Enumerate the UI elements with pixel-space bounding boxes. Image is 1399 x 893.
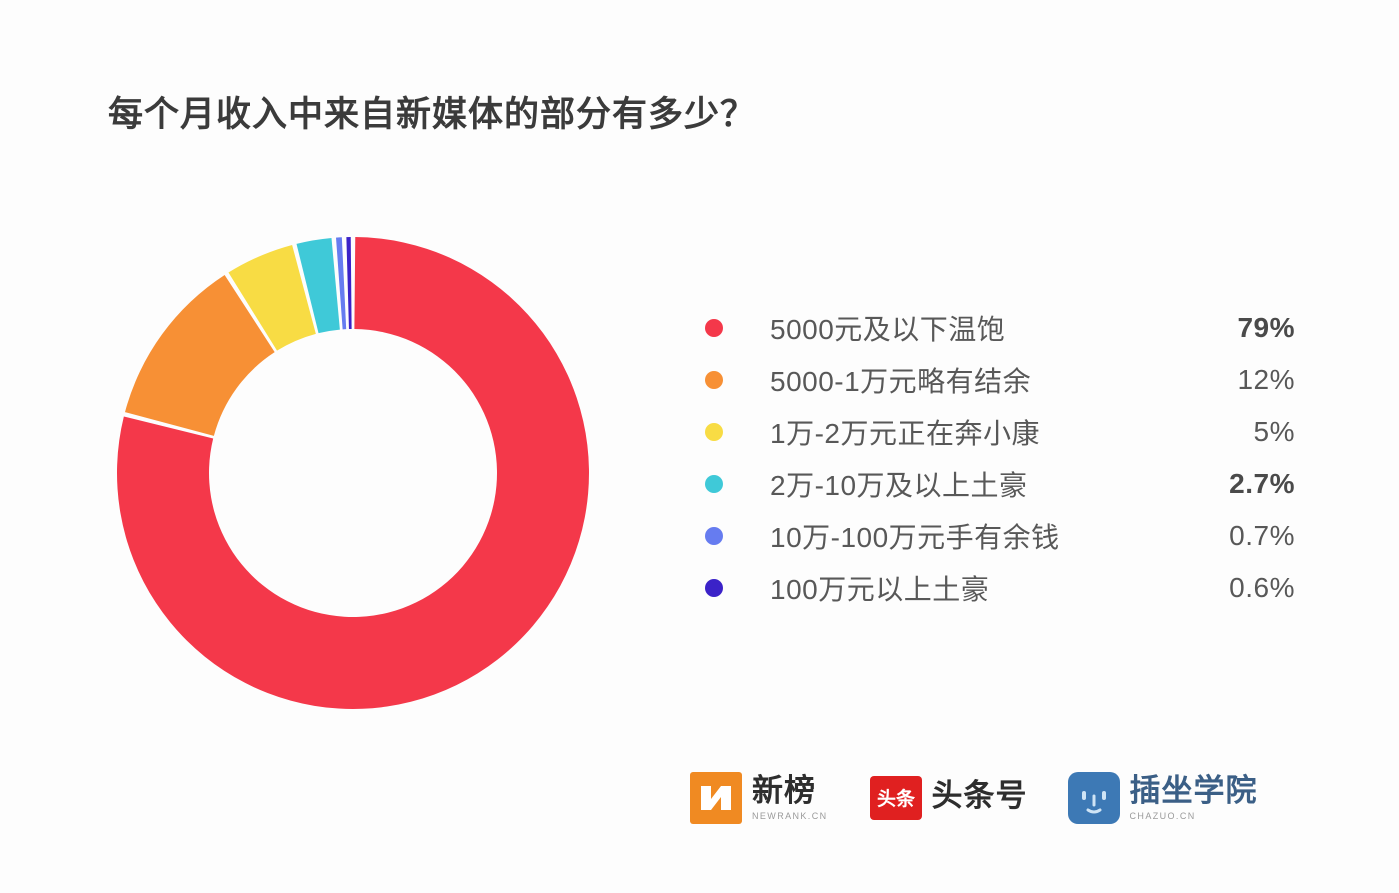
chazuo-mark-icon <box>1068 772 1120 824</box>
chazuo-subtitle: CHAZUO.CN <box>1130 811 1258 821</box>
chazuo-name: 插坐学院 <box>1130 775 1258 808</box>
svg-text:头条: 头条 <box>877 787 916 810</box>
legend-item-value: 12% <box>1125 364 1295 396</box>
toutiaohao-name: 头条号 <box>932 780 1028 813</box>
logo-chazuo: 插坐学院 CHAZUO.CN <box>1068 772 1258 824</box>
legend-item-value: 79% <box>1125 312 1295 344</box>
donut-chart <box>115 235 591 711</box>
slide-canvas: 每个月收入中来自新媒体的部分有多少？ 5000元及以下温饱79%5000-1万元… <box>0 0 1399 893</box>
legend-item-label: 2万-10万及以上土豪 <box>770 464 1028 504</box>
legend-item-value: 0.7% <box>1125 520 1295 552</box>
legend-swatch-icon <box>705 371 723 389</box>
chart-legend: 5000元及以下温饱79%5000-1万元略有结余12%1万-2万元正在奔小康5… <box>705 302 1305 614</box>
legend-item-label: 1万-2万元正在奔小康 <box>770 412 1040 452</box>
logo-newrank: 新榜 NEWRANK.CN <box>690 772 828 824</box>
legend-item-5[interactable]: 100万元以上土豪0.6% <box>705 562 1305 614</box>
legend-item-value: 5% <box>1125 416 1295 448</box>
newrank-name: 新榜 <box>752 775 828 808</box>
legend-item-label: 5000-1万元略有结余 <box>770 360 1031 400</box>
legend-swatch-icon <box>705 423 723 441</box>
donut-slice-5[interactable] <box>346 237 351 329</box>
newrank-subtitle: NEWRANK.CN <box>752 811 828 821</box>
legend-item-3[interactable]: 2万-10万及以上土豪2.7% <box>705 458 1305 510</box>
legend-item-4[interactable]: 10万-100万元手有余钱0.7% <box>705 510 1305 562</box>
legend-item-label: 100万元以上土豪 <box>770 568 989 608</box>
newrank-text: 新榜 NEWRANK.CN <box>752 775 828 821</box>
legend-item-label: 5000元及以下温饱 <box>770 308 1005 348</box>
toutiaohao-mark-icon: 头条 <box>870 773 922 823</box>
legend-swatch-icon <box>705 527 723 545</box>
donut-chart-svg <box>115 235 591 711</box>
chazuo-text: 插坐学院 CHAZUO.CN <box>1130 775 1258 821</box>
legend-item-value: 2.7% <box>1125 468 1295 500</box>
donut-slice-group <box>117 237 589 709</box>
legend-swatch-icon <box>705 475 723 493</box>
footer-logo-bar: 新榜 NEWRANK.CN 头条 头条号 <box>690 772 1258 824</box>
logo-toutiaohao: 头条 头条号 <box>870 773 1028 823</box>
legend-swatch-icon <box>705 319 723 337</box>
legend-item-label: 10万-100万元手有余钱 <box>770 516 1060 556</box>
page-title: 每个月收入中来自新媒体的部分有多少？ <box>108 86 756 137</box>
legend-item-value: 0.6% <box>1125 572 1295 604</box>
legend-item-2[interactable]: 1万-2万元正在奔小康5% <box>705 406 1305 458</box>
toutiaohao-text: 头条号 <box>932 780 1028 816</box>
legend-swatch-icon <box>705 579 723 597</box>
legend-item-0[interactable]: 5000元及以下温饱79% <box>705 302 1305 354</box>
legend-item-1[interactable]: 5000-1万元略有结余12% <box>705 354 1305 406</box>
newrank-mark-icon <box>690 772 742 824</box>
